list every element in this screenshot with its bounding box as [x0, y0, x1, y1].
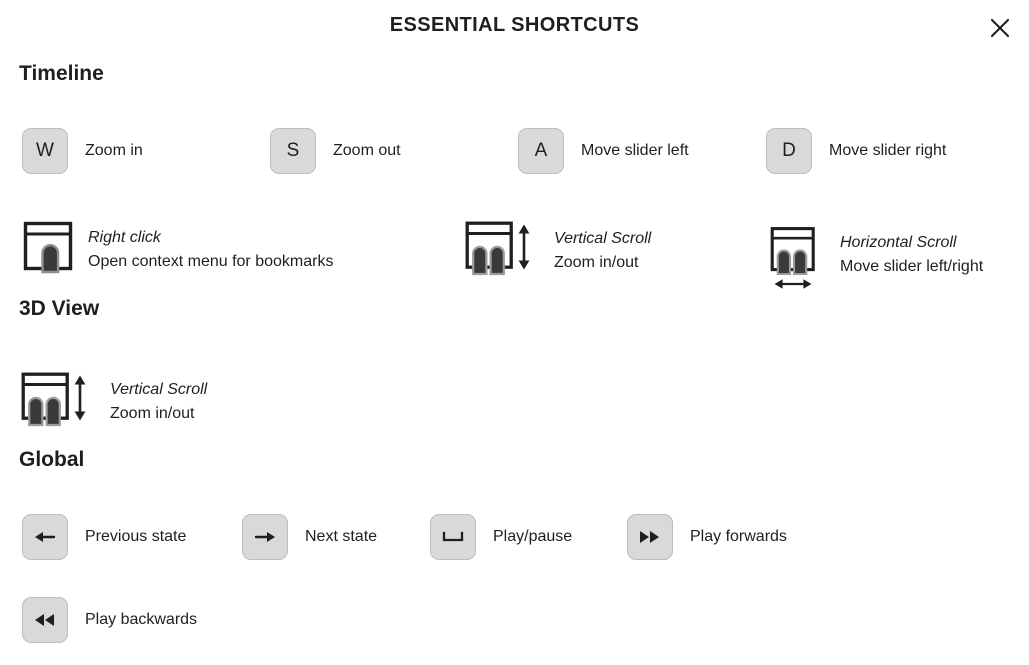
- close-button[interactable]: [985, 13, 1015, 43]
- shortcut-text: Vertical Scroll Zoom in/out: [110, 378, 207, 425]
- section-timeline: Timeline: [0, 62, 1029, 86]
- shortcut-zoom-out[interactable]: S Zoom out: [270, 128, 518, 174]
- page-title: ESSENTIAL SHORTCUTS: [0, 14, 1029, 37]
- shortcut-play-pause[interactable]: Play/pause: [430, 514, 627, 560]
- section-heading-timeline: Timeline: [19, 62, 1029, 86]
- mouse-description-label: Open context menu for bookmarks: [88, 250, 333, 274]
- space-bar-icon: [441, 529, 465, 545]
- mouse-action-label: Vertical Scroll: [554, 227, 651, 251]
- shortcut-move-slider-left[interactable]: A Move slider left: [518, 128, 766, 174]
- global-key-shortcut-row-1: Previous state Next state: [22, 514, 787, 560]
- mouse-action-label: Vertical Scroll: [110, 378, 207, 402]
- shortcut-zoom-in[interactable]: W Zoom in: [22, 128, 270, 174]
- shortcut-label: Play/pause: [493, 528, 572, 546]
- mouse-horizontal-scroll-icon: [768, 226, 822, 297]
- key-s[interactable]: S: [270, 128, 316, 174]
- shortcut-vertical-scroll-timeline[interactable]: Vertical Scroll Zoom in/out: [464, 220, 651, 281]
- key-rewind[interactable]: [22, 597, 68, 643]
- shortcut-label: Zoom out: [333, 142, 401, 160]
- shortcut-next-state[interactable]: Next state: [242, 514, 430, 560]
- mouse-description-label: Zoom in/out: [110, 402, 207, 426]
- shortcut-previous-state[interactable]: Previous state: [22, 514, 242, 560]
- timeline-key-shortcut-row: W Zoom in S Zoom out A Move slider left …: [22, 128, 946, 174]
- shortcut-text: Vertical Scroll Zoom in/out: [554, 227, 651, 274]
- key-w[interactable]: W: [22, 128, 68, 174]
- rewind-icon: [32, 611, 58, 629]
- shortcut-text: Right click Open context menu for bookma…: [88, 226, 333, 273]
- arrow-left-icon: [32, 526, 58, 548]
- shortcut-vertical-scroll-3d-view[interactable]: Vertical Scroll Zoom in/out: [20, 371, 207, 432]
- shortcut-label: Zoom in: [85, 142, 143, 160]
- key-arrow-right[interactable]: [242, 514, 288, 560]
- key-arrow-left[interactable]: [22, 514, 68, 560]
- key-a[interactable]: A: [518, 128, 564, 174]
- key-space[interactable]: [430, 514, 476, 560]
- key-d[interactable]: D: [766, 128, 812, 174]
- global-key-shortcut-row-2: Play backwards: [22, 597, 197, 643]
- close-icon: [989, 17, 1011, 39]
- mouse-description-label: Zoom in/out: [554, 251, 651, 275]
- section-heading-global: Global: [19, 448, 1029, 472]
- section-global: Global: [0, 448, 1029, 472]
- mouse-vertical-scroll-icon: [20, 371, 96, 432]
- shortcut-play-backwards[interactable]: Play backwards: [22, 597, 197, 643]
- shortcut-right-click[interactable]: Right click Open context menu for bookma…: [22, 220, 333, 279]
- dialog-header: ESSENTIAL SHORTCUTS: [0, 0, 1029, 56]
- shortcut-play-forwards[interactable]: Play forwards: [627, 514, 787, 560]
- shortcut-horizontal-scroll-timeline[interactable]: Horizontal Scroll Move slider left/right: [768, 226, 983, 297]
- fast-forward-icon: [637, 528, 663, 546]
- shortcut-label: Play forwards: [690, 528, 787, 546]
- shortcut-label: Move slider left: [581, 142, 689, 160]
- key-fast-forward[interactable]: [627, 514, 673, 560]
- mouse-vertical-scroll-icon: [464, 220, 540, 281]
- shortcut-label: Move slider right: [829, 142, 946, 160]
- mouse-action-label: Horizontal Scroll: [840, 231, 983, 255]
- shortcut-label: Next state: [305, 528, 377, 546]
- mouse-action-label: Right click: [88, 226, 333, 250]
- shortcut-label: Previous state: [85, 528, 186, 546]
- shortcut-text: Horizontal Scroll Move slider left/right: [840, 231, 983, 278]
- section-heading-3d-view: 3D View: [19, 297, 1029, 321]
- arrow-right-icon: [252, 526, 278, 548]
- mouse-right-click-icon: [22, 220, 74, 279]
- shortcut-label: Play backwards: [85, 611, 197, 629]
- mouse-description-label: Move slider left/right: [840, 255, 983, 279]
- shortcut-move-slider-right[interactable]: D Move slider right: [766, 128, 946, 174]
- section-3d-view: 3D View: [0, 297, 1029, 321]
